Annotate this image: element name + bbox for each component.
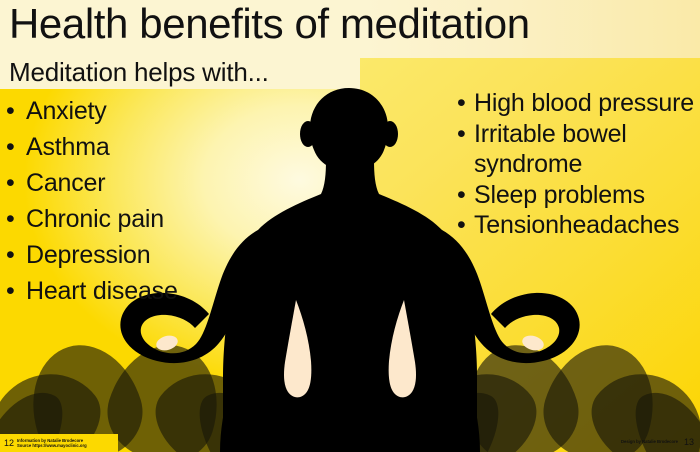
- footer-left: 12 Information by Natalie Brodecore Sour…: [0, 434, 118, 452]
- credit-design: Design by Natalie Brodecore: [621, 434, 684, 450]
- bullet-icon: •: [6, 240, 15, 271]
- bullet-icon: •: [457, 210, 466, 241]
- list-item-label: Tensionheadaches: [474, 210, 700, 241]
- list-item-label: Depression: [26, 240, 178, 271]
- list-item-label: Chronic pain: [26, 204, 178, 235]
- list-item-label: Heart disease: [26, 276, 178, 307]
- list-item: • Irritable bowel syndrome: [457, 119, 700, 180]
- benefits-list-left: • Anxiety • Asthma • Cancer • Chronic pa…: [6, 96, 178, 312]
- bullet-icon: •: [457, 119, 466, 150]
- list-item-label: Asthma: [26, 132, 178, 163]
- bullet-icon: •: [6, 204, 15, 235]
- list-item: • Anxiety: [6, 96, 178, 127]
- list-item-label: Irritable bowel syndrome: [474, 119, 700, 180]
- bullet-icon: •: [457, 180, 466, 211]
- list-item: • Sleep problems: [457, 180, 700, 211]
- list-item-label: Anxiety: [26, 96, 178, 127]
- page-number-left: 12: [0, 434, 17, 452]
- list-item: • High blood pressure: [457, 88, 700, 119]
- page-title: Health benefits of meditation: [9, 0, 530, 50]
- footer-right: Design by Natalie Brodecore 13: [621, 434, 700, 450]
- bullet-icon: •: [6, 132, 15, 163]
- list-item: • Tensionheadaches: [457, 210, 700, 241]
- list-item-label: Sleep problems: [474, 180, 700, 211]
- slide-canvas: Health benefits of meditation Meditation…: [0, 0, 700, 452]
- list-item: • Heart disease: [6, 276, 178, 307]
- bullet-icon: •: [6, 168, 15, 199]
- page-number-right: 13: [684, 434, 700, 450]
- list-item: • Depression: [6, 240, 178, 271]
- credit-info-line2: Source https://www.mayoclinic.org: [17, 443, 87, 448]
- list-item: • Cancer: [6, 168, 178, 199]
- bullet-icon: •: [457, 88, 466, 119]
- credit-information: Information by Natalie Brodecore Source …: [17, 438, 89, 448]
- list-item-label: Cancer: [26, 168, 178, 199]
- benefits-list-right: • High blood pressure • Irritable bowel …: [457, 88, 700, 241]
- subtitle: Meditation helps with...: [9, 56, 269, 88]
- bullet-icon: •: [6, 276, 15, 307]
- list-item-label: High blood pressure: [474, 88, 700, 119]
- list-item: • Asthma: [6, 132, 178, 163]
- list-item: • Chronic pain: [6, 204, 178, 235]
- bullet-icon: •: [6, 96, 15, 127]
